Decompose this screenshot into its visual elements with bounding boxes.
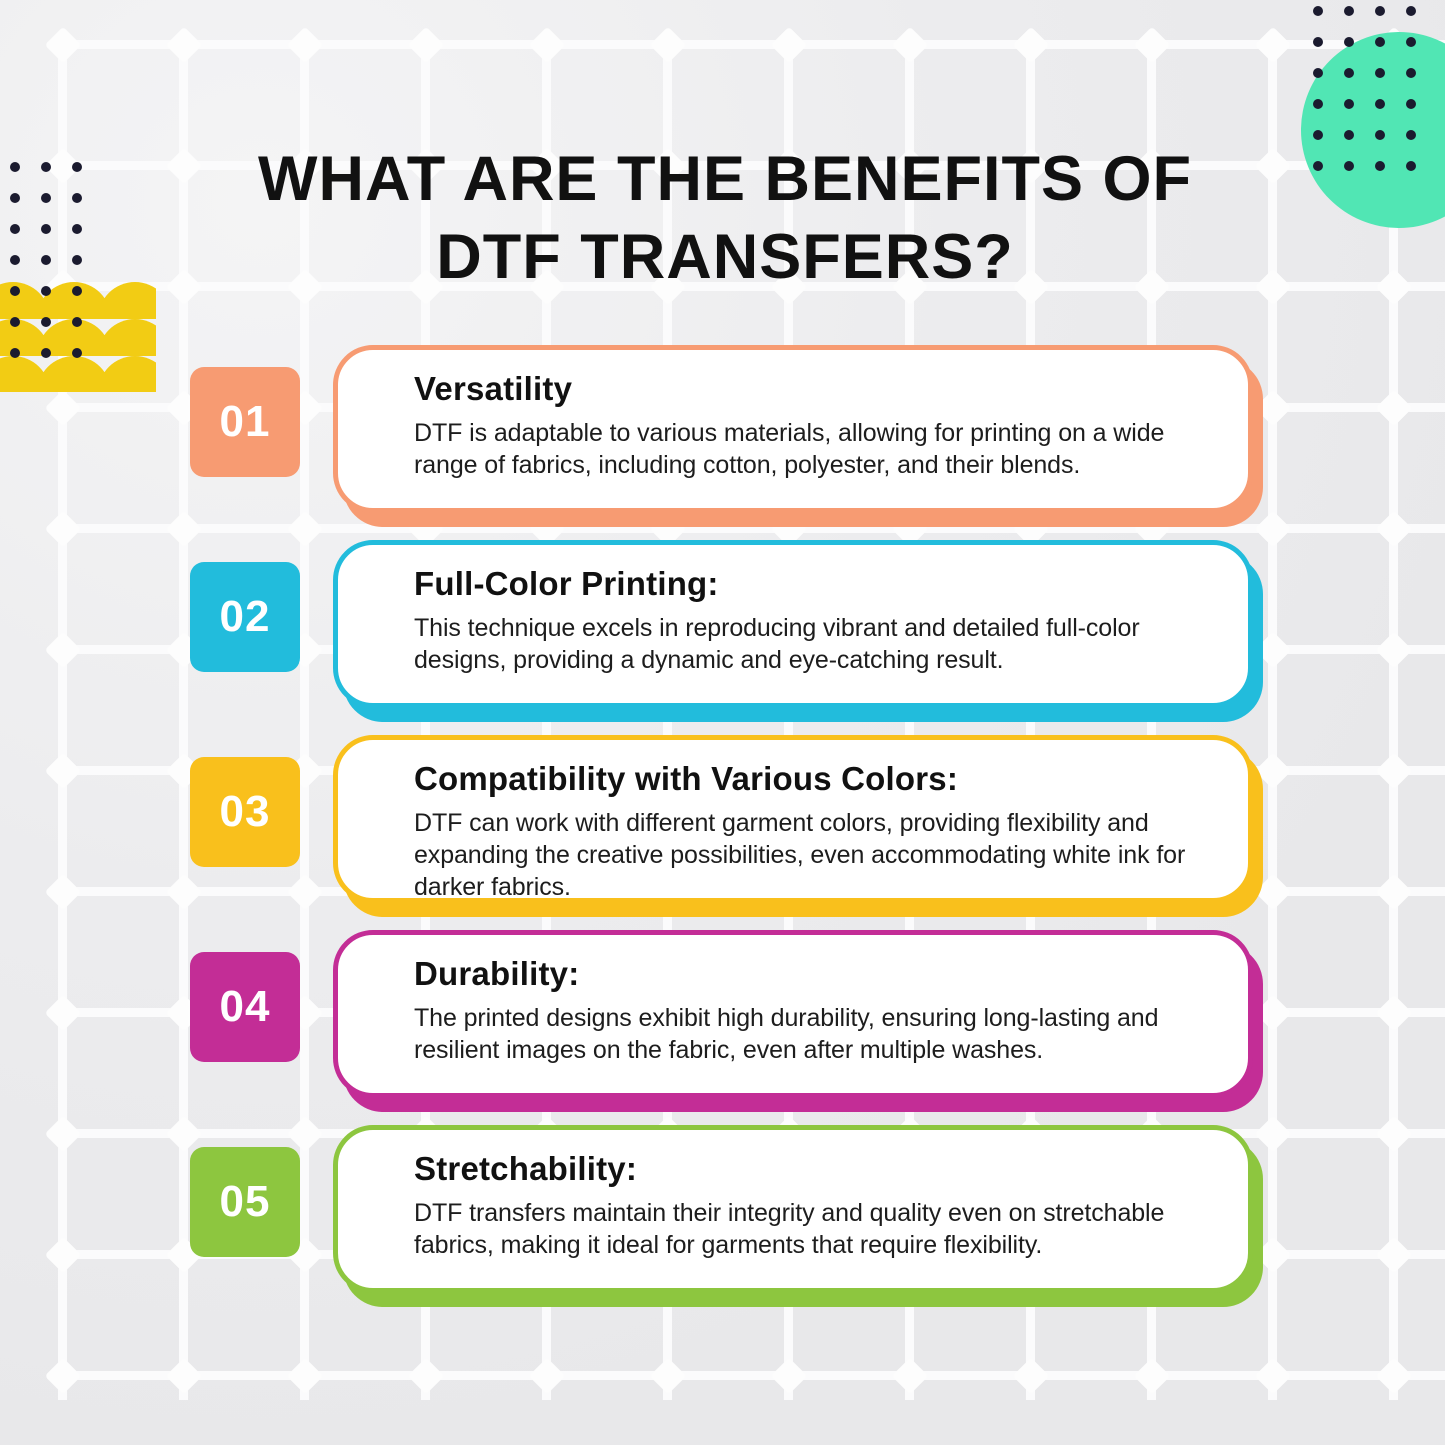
infographic-poster: WHAT ARE THE BENEFITS OF DTF TRANSFERS? … bbox=[0, 0, 1445, 1445]
benefit-title: Versatility bbox=[414, 370, 1214, 408]
benefit-row[interactable]: 03Compatibility with Various Colors:DTF … bbox=[0, 735, 1445, 930]
benefit-card[interactable]: Full-Color Printing:This technique excel… bbox=[333, 540, 1253, 708]
benefit-list: 01VersatilityDTF is adaptable to various… bbox=[0, 345, 1445, 1320]
benefit-description: This technique excels in reproducing vib… bbox=[414, 612, 1214, 676]
benefit-number-badge: 03 bbox=[190, 757, 300, 867]
benefit-description: DTF is adaptable to various materials, a… bbox=[414, 417, 1214, 481]
benefit-number-badge: 02 bbox=[190, 562, 300, 672]
card-surface: Full-Color Printing:This technique excel… bbox=[333, 540, 1253, 708]
benefit-title: Full-Color Printing: bbox=[414, 565, 1214, 603]
card-surface: VersatilityDTF is adaptable to various m… bbox=[333, 345, 1253, 513]
benefit-card[interactable]: Compatibility with Various Colors:DTF ca… bbox=[333, 735, 1253, 903]
card-surface: Compatibility with Various Colors:DTF ca… bbox=[333, 735, 1253, 903]
benefit-description: DTF can work with different garment colo… bbox=[414, 807, 1214, 903]
benefit-row[interactable]: 01VersatilityDTF is adaptable to various… bbox=[0, 345, 1445, 540]
benefit-title: Compatibility with Various Colors: bbox=[414, 760, 1214, 798]
benefit-card[interactable]: VersatilityDTF is adaptable to various m… bbox=[333, 345, 1253, 513]
benefit-row[interactable]: 02Full-Color Printing:This technique exc… bbox=[0, 540, 1445, 735]
benefit-title: Stretchability: bbox=[414, 1150, 1214, 1188]
card-surface: Durability:The printed designs exhibit h… bbox=[333, 930, 1253, 1098]
benefit-title: Durability: bbox=[414, 955, 1214, 993]
mint-circle-decoration bbox=[1301, 32, 1445, 228]
benefit-description: DTF transfers maintain their integrity a… bbox=[414, 1197, 1214, 1261]
benefit-card[interactable]: Stretchability:DTF transfers maintain th… bbox=[333, 1125, 1253, 1293]
benefit-row[interactable]: 04Durability:The printed designs exhibit… bbox=[0, 930, 1445, 1125]
benefit-number-badge: 04 bbox=[190, 952, 300, 1062]
benefit-description: The printed designs exhibit high durabil… bbox=[414, 1002, 1214, 1066]
page-title: WHAT ARE THE BENEFITS OF DTF TRANSFERS? bbox=[190, 140, 1260, 296]
benefit-number-badge: 01 bbox=[190, 367, 300, 477]
benefit-card[interactable]: Durability:The printed designs exhibit h… bbox=[333, 930, 1253, 1098]
benefit-number-badge: 05 bbox=[190, 1147, 300, 1257]
benefit-row[interactable]: 05Stretchability:DTF transfers maintain … bbox=[0, 1125, 1445, 1320]
card-surface: Stretchability:DTF transfers maintain th… bbox=[333, 1125, 1253, 1293]
